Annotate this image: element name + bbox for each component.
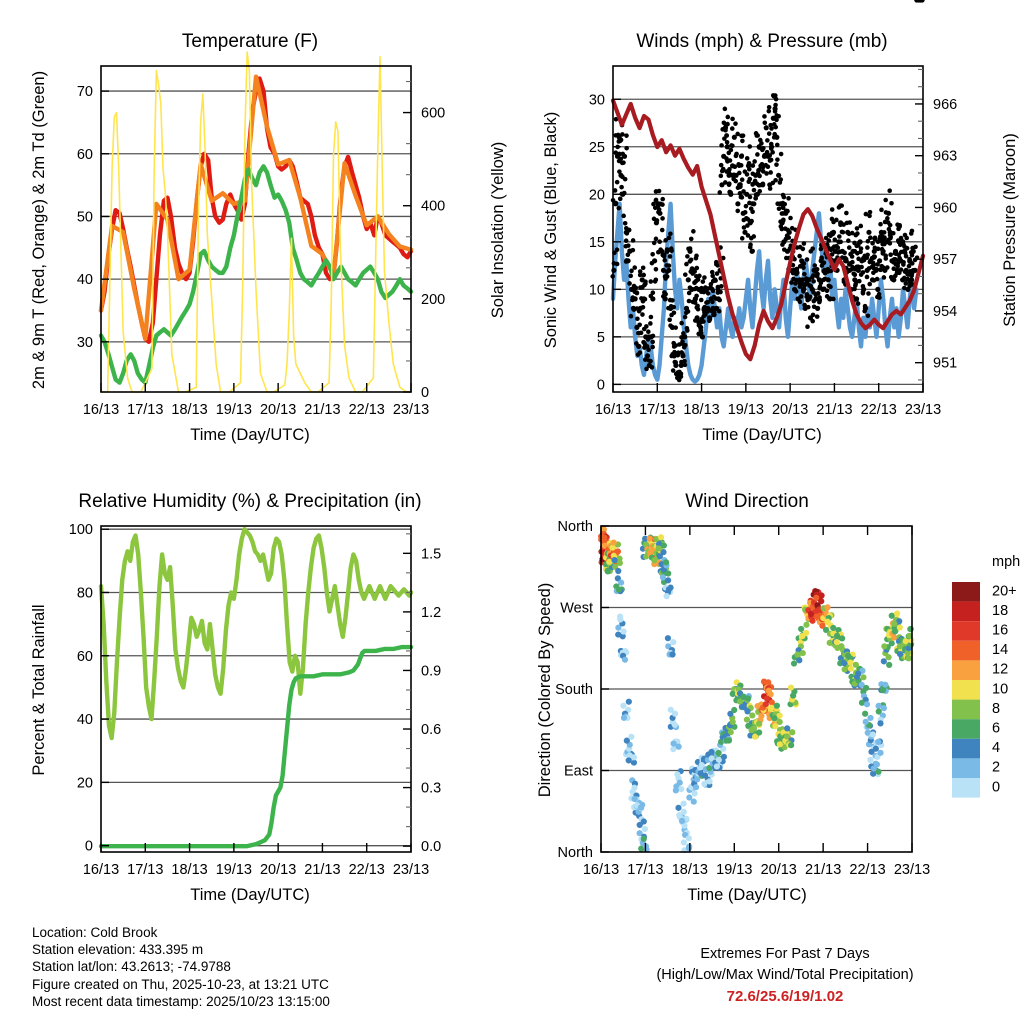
svg-text:10: 10 xyxy=(589,282,605,298)
wind-direction-title: Wind Direction xyxy=(685,491,809,512)
humidity-xlabel: Time (Day/UTC) xyxy=(190,886,309,904)
svg-text:23/13: 23/13 xyxy=(894,862,930,878)
temperature-y2label: Solar Insolation (Yellow) xyxy=(489,142,507,318)
svg-text:16/13: 16/13 xyxy=(583,862,619,878)
winds-ylabel: Sonic Wind & Gust (Blue, Black) xyxy=(542,112,560,349)
station-metadata: Location: Cold Brook Station elevation: … xyxy=(32,924,502,1010)
svg-text:20/13: 20/13 xyxy=(772,402,808,418)
svg-text:40: 40 xyxy=(77,712,93,728)
svg-text:19/13: 19/13 xyxy=(216,862,252,878)
svg-text:19/13: 19/13 xyxy=(728,402,764,418)
svg-text:0: 0 xyxy=(597,377,605,393)
svg-text:18/13: 18/13 xyxy=(672,862,708,878)
winds-plot-area: 05101520253095195495796096396616/1317/13… xyxy=(589,0,957,418)
svg-text:20+: 20+ xyxy=(992,583,1017,599)
svg-text:15: 15 xyxy=(589,235,605,251)
temperature-xlabel: Time (Day/UTC) xyxy=(190,426,309,444)
metadata-created: Figure created on Thu, 2025-10-23, at 13… xyxy=(32,976,502,993)
svg-text:North: North xyxy=(558,519,593,535)
svg-text:100: 100 xyxy=(69,522,93,538)
svg-text:60: 60 xyxy=(77,649,93,665)
svg-text:17/13: 17/13 xyxy=(127,402,163,418)
panel-winds-pressure: Winds (mph) & Pressure (mb) Sonic Wind &… xyxy=(512,0,1024,460)
humidity-plot-area: 0204060801000.00.30.60.91.21.516/1317/13… xyxy=(69,522,441,878)
panel-temperature: Temperature (F) 2m & 9m T (Red, Orange) … xyxy=(0,0,512,460)
winds-xlabel: Time (Day/UTC) xyxy=(702,426,821,444)
metadata-location: Location: Cold Brook xyxy=(32,924,502,941)
svg-text:mph: mph xyxy=(992,554,1020,570)
svg-text:966: 966 xyxy=(933,97,957,113)
svg-text:600: 600 xyxy=(421,106,445,122)
svg-text:0.9: 0.9 xyxy=(421,663,441,679)
svg-text:70: 70 xyxy=(77,84,93,100)
svg-text:20/13: 20/13 xyxy=(761,862,797,878)
svg-text:200: 200 xyxy=(421,292,445,308)
humidity-title: Relative Humidity (%) & Precipitation (i… xyxy=(78,491,421,512)
wind-direction-chart: Wind Direction Direction (Colored By Spe… xyxy=(512,460,1024,920)
svg-text:0.3: 0.3 xyxy=(421,781,441,797)
svg-text:23/13: 23/13 xyxy=(905,402,941,418)
svg-text:1.2: 1.2 xyxy=(421,605,441,621)
extremes-subheading: (High/Low/Max Wind/Total Precipitation) xyxy=(560,965,1010,986)
extremes-heading: Extremes For Past 7 Days xyxy=(560,944,1010,965)
svg-text:23/13: 23/13 xyxy=(393,862,429,878)
svg-text:400: 400 xyxy=(421,199,445,215)
svg-text:0: 0 xyxy=(85,839,93,855)
svg-text:4: 4 xyxy=(992,740,1000,756)
svg-text:21/13: 21/13 xyxy=(304,862,340,878)
svg-text:22/13: 22/13 xyxy=(349,862,385,878)
temperature-title: Temperature (F) xyxy=(182,31,318,52)
temperature-chart: Temperature (F) 2m & 9m T (Red, Orange) … xyxy=(0,0,512,460)
svg-text:12: 12 xyxy=(992,662,1008,678)
svg-text:16: 16 xyxy=(992,623,1008,639)
svg-text:25: 25 xyxy=(589,140,605,156)
svg-text:18: 18 xyxy=(992,603,1008,619)
svg-text:22/13: 22/13 xyxy=(861,402,897,418)
wind-speed-colorbar: mph20+181614121086420 xyxy=(952,554,1020,798)
svg-text:0: 0 xyxy=(992,779,1000,795)
svg-text:40: 40 xyxy=(77,272,93,288)
temperature-ylabel: 2m & 9m T (Red, Orange) & 2m Td (Green) xyxy=(30,71,48,389)
wind-direction-ylabel: Direction (Colored By Speed) xyxy=(536,583,554,798)
svg-text:22/13: 22/13 xyxy=(849,862,885,878)
extremes-summary: Extremes For Past 7 Days (High/Low/Max W… xyxy=(560,944,1010,1008)
svg-text:30: 30 xyxy=(589,92,605,108)
svg-text:60: 60 xyxy=(77,147,93,163)
svg-text:5: 5 xyxy=(597,330,605,346)
svg-text:23/13: 23/13 xyxy=(393,402,429,418)
svg-text:14: 14 xyxy=(992,642,1008,658)
svg-text:8: 8 xyxy=(992,701,1000,717)
winds-title: Winds (mph) & Pressure (mb) xyxy=(636,31,887,52)
panel-humidity-precipitation: Relative Humidity (%) & Precipitation (i… xyxy=(0,460,512,920)
svg-text:21/13: 21/13 xyxy=(304,402,340,418)
svg-text:20/13: 20/13 xyxy=(260,402,296,418)
wind-direction-plot-area: NorthWestSouthEastNorth16/1317/1318/1319… xyxy=(555,519,930,878)
svg-text:18/13: 18/13 xyxy=(171,862,207,878)
svg-text:20: 20 xyxy=(589,187,605,203)
svg-text:960: 960 xyxy=(933,200,957,216)
svg-text:21/13: 21/13 xyxy=(805,862,841,878)
panel-wind-direction: Wind Direction Direction (Colored By Spe… xyxy=(512,460,1024,920)
svg-text:50: 50 xyxy=(77,209,93,225)
winds-chart: Winds (mph) & Pressure (mb) Sonic Wind &… xyxy=(512,0,1024,460)
svg-text:957: 957 xyxy=(933,252,957,268)
svg-text:22/13: 22/13 xyxy=(349,402,385,418)
svg-text:19/13: 19/13 xyxy=(216,402,252,418)
extremes-values: 72.6/25.6/19/1.02 xyxy=(560,986,1010,1008)
svg-text:East: East xyxy=(564,764,593,780)
svg-text:2: 2 xyxy=(992,760,1000,776)
metadata-recent-timestamp: Most recent data timestamp: 2025/10/23 1… xyxy=(32,993,502,1010)
svg-text:West: West xyxy=(560,601,593,617)
svg-text:0.6: 0.6 xyxy=(421,722,441,738)
svg-text:951: 951 xyxy=(933,356,957,372)
svg-text:10: 10 xyxy=(992,681,1008,697)
svg-text:18/13: 18/13 xyxy=(171,402,207,418)
svg-text:17/13: 17/13 xyxy=(627,862,663,878)
svg-text:17/13: 17/13 xyxy=(639,402,675,418)
svg-text:6: 6 xyxy=(992,721,1000,737)
svg-text:18/13: 18/13 xyxy=(683,402,719,418)
svg-text:954: 954 xyxy=(933,304,957,320)
svg-text:16/13: 16/13 xyxy=(83,402,119,418)
wind-direction-xlabel: Time (Day/UTC) xyxy=(687,886,806,904)
svg-text:19/13: 19/13 xyxy=(716,862,752,878)
svg-text:16/13: 16/13 xyxy=(595,402,631,418)
svg-text:17/13: 17/13 xyxy=(127,862,163,878)
svg-text:30: 30 xyxy=(77,335,93,351)
metadata-latlon: Station lat/lon: 43.2613; -74.9788 xyxy=(32,958,502,975)
svg-text:1.5: 1.5 xyxy=(421,546,441,562)
svg-text:21/13: 21/13 xyxy=(816,402,852,418)
svg-text:North: North xyxy=(558,845,593,861)
svg-text:80: 80 xyxy=(77,585,93,601)
svg-text:16/13: 16/13 xyxy=(83,862,119,878)
svg-text:0: 0 xyxy=(421,385,429,401)
humidity-ylabel: Percent & Total Rainfall xyxy=(30,604,48,775)
temperature-plot-area: 3040506070020040060016/1317/1318/1319/13… xyxy=(77,52,445,418)
svg-text:963: 963 xyxy=(933,149,957,165)
svg-text:0.0: 0.0 xyxy=(421,839,441,855)
svg-text:20: 20 xyxy=(77,775,93,791)
metadata-elevation: Station elevation: 433.395 m xyxy=(32,941,502,958)
svg-text:South: South xyxy=(555,682,593,698)
svg-text:20/13: 20/13 xyxy=(260,862,296,878)
winds-y2label: Station Pressure (Maroon) xyxy=(1001,133,1019,327)
humidity-chart: Relative Humidity (%) & Precipitation (i… xyxy=(0,460,512,920)
